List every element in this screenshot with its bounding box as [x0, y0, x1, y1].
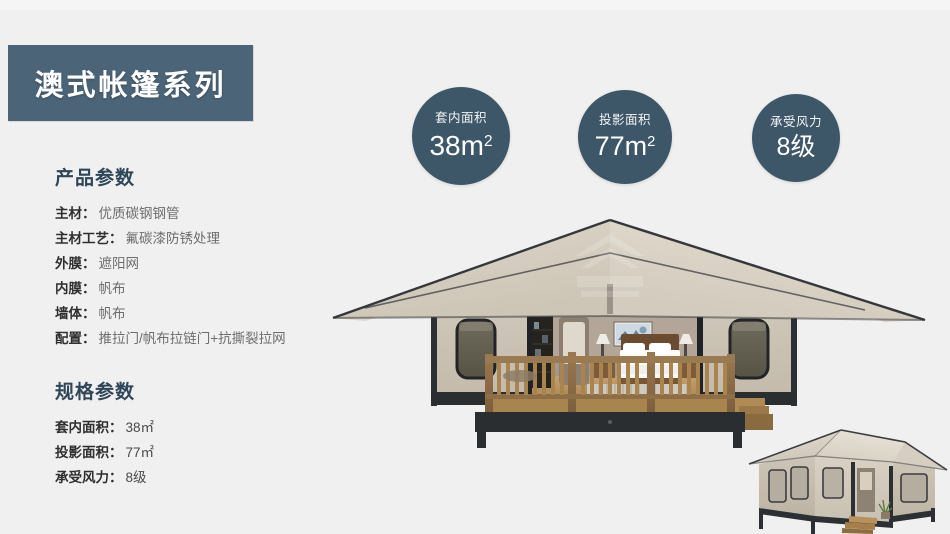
spec-row: 套内面积：38㎡ [55, 415, 355, 440]
spec-label: 配置： [55, 331, 96, 346]
spec-row: 主材工艺：氟碳漆防锈处理 [55, 226, 355, 251]
spec-row: 承受风力：8级 [55, 465, 355, 490]
spec-value: 氟碳漆防锈处理 [123, 231, 221, 246]
spec-value: 优质碳钢钢管 [96, 206, 180, 221]
spec-label: 投影面积： [55, 445, 123, 460]
specification-panel: 产品参数 主材：优质碳钢钢管 主材工艺：氟碳漆防锈处理 外膜：遮阳网 内膜：帆布… [55, 163, 355, 490]
metric-value: 8级 [777, 135, 816, 160]
spec-row: 配置：推拉门/帆布拉链门+抗撕裂拉网 [55, 326, 355, 351]
metric-unit-sup: 2 [484, 133, 493, 150]
spec-label: 套内面积： [55, 420, 123, 435]
spec-label: 主材： [55, 206, 96, 221]
metric-badge-wind-resistance: 承受风力 8级 [752, 94, 840, 182]
spec-row: 外膜：遮阳网 [55, 251, 355, 276]
metric-label: 投影面积 [599, 114, 651, 127]
product-params-list: 主材：优质碳钢钢管 主材工艺：氟碳漆防锈处理 外膜：遮阳网 内膜：帆布 墙体：帆… [55, 201, 355, 351]
spec-label: 墙体： [55, 306, 96, 321]
spec-value: 遮阳网 [96, 256, 140, 271]
spec-value: 推拉门/帆布拉链门+抗撕裂拉网 [96, 331, 286, 346]
spec-value: 帆布 [96, 306, 126, 321]
spec-row: 投影面积：77㎡ [55, 440, 355, 465]
series-title-text: 澳式帐篷系列 [34, 62, 226, 104]
top-strip [0, 0, 950, 10]
spec-value: 38㎡ [123, 420, 155, 435]
secondary-tent-right-wall [893, 460, 935, 522]
spec-label: 承受风力： [55, 470, 123, 485]
spec-label: 外膜： [55, 256, 96, 271]
spec-params-heading: 规格参数 [55, 377, 355, 404]
product-params-heading: 产品参数 [55, 163, 355, 190]
metric-value: 38m2 [429, 132, 492, 160]
metric-label: 承受风力 [770, 116, 822, 129]
metric-badge-projected-area: 投影面积 77m2 [578, 90, 672, 184]
spec-row: 墙体：帆布 [55, 301, 355, 326]
spec-value: 8级 [123, 470, 147, 485]
metric-label: 套内面积 [435, 112, 487, 125]
spec-label: 内膜： [55, 281, 96, 296]
key-metrics-badges: 套内面积 38m2 投影面积 77m2 承受风力 8级 [396, 85, 936, 200]
spec-row: 内膜：帆布 [55, 276, 355, 301]
metric-value: 77m2 [595, 133, 656, 160]
tent-roof [333, 220, 925, 324]
spec-label: 主材工艺： [55, 231, 123, 246]
metric-unit-sup: 2 [647, 134, 655, 150]
spec-value: 77㎡ [123, 445, 155, 460]
spec-row: 主材：优质碳钢钢管 [55, 201, 355, 226]
series-title-banner: 澳式帐篷系列 [8, 45, 253, 121]
metric-badge-interior-area: 套内面积 38m2 [412, 87, 510, 185]
secondary-tent-left-wall [759, 454, 815, 534]
spec-params-list: 套内面积：38㎡ 投影面积：77㎡ 承受风力：8级 [55, 415, 355, 490]
secondary-tent-illustration [745, 412, 950, 534]
spec-value: 帆布 [96, 281, 126, 296]
